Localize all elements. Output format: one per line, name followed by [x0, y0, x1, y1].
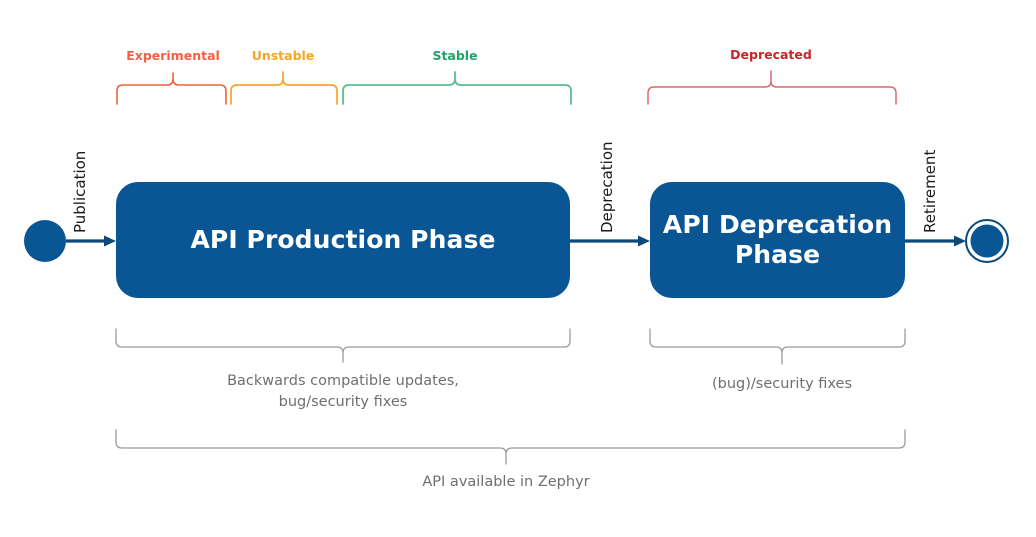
phase-label-deprecation: API Deprecation Phase [650, 210, 905, 271]
stability-label-unstable: Unstable [252, 50, 315, 63]
stability-label-stable: Stable [432, 50, 477, 63]
transition-label-deprecation: Deprecation [600, 141, 615, 233]
overall-bottom-bracket [116, 430, 905, 464]
stability-label-deprecated: Deprecated [730, 49, 812, 62]
transition-label-retirement: Retirement [923, 150, 938, 233]
phase-box-deprecation[interactable]: API Deprecation Phase [650, 182, 905, 298]
production-bottom-bracket [116, 329, 570, 362]
phase-label-production: API Production Phase [180, 225, 505, 256]
phase-box-production[interactable]: API Production Phase [116, 182, 570, 298]
stability-label-experimental: Experimental [126, 50, 220, 63]
api-lifecycle-diagram: API Production Phase API Deprecation Pha… [0, 0, 1036, 537]
caption-deprecation-support: (bug)/security fixes [712, 374, 852, 395]
deprecation-bottom-bracket [650, 329, 905, 364]
caption-api-availability: API available in Zephyr [422, 472, 589, 493]
caption-production-support: Backwards compatible updates, bug/securi… [227, 371, 459, 413]
transition-label-publication: Publication [73, 151, 88, 233]
